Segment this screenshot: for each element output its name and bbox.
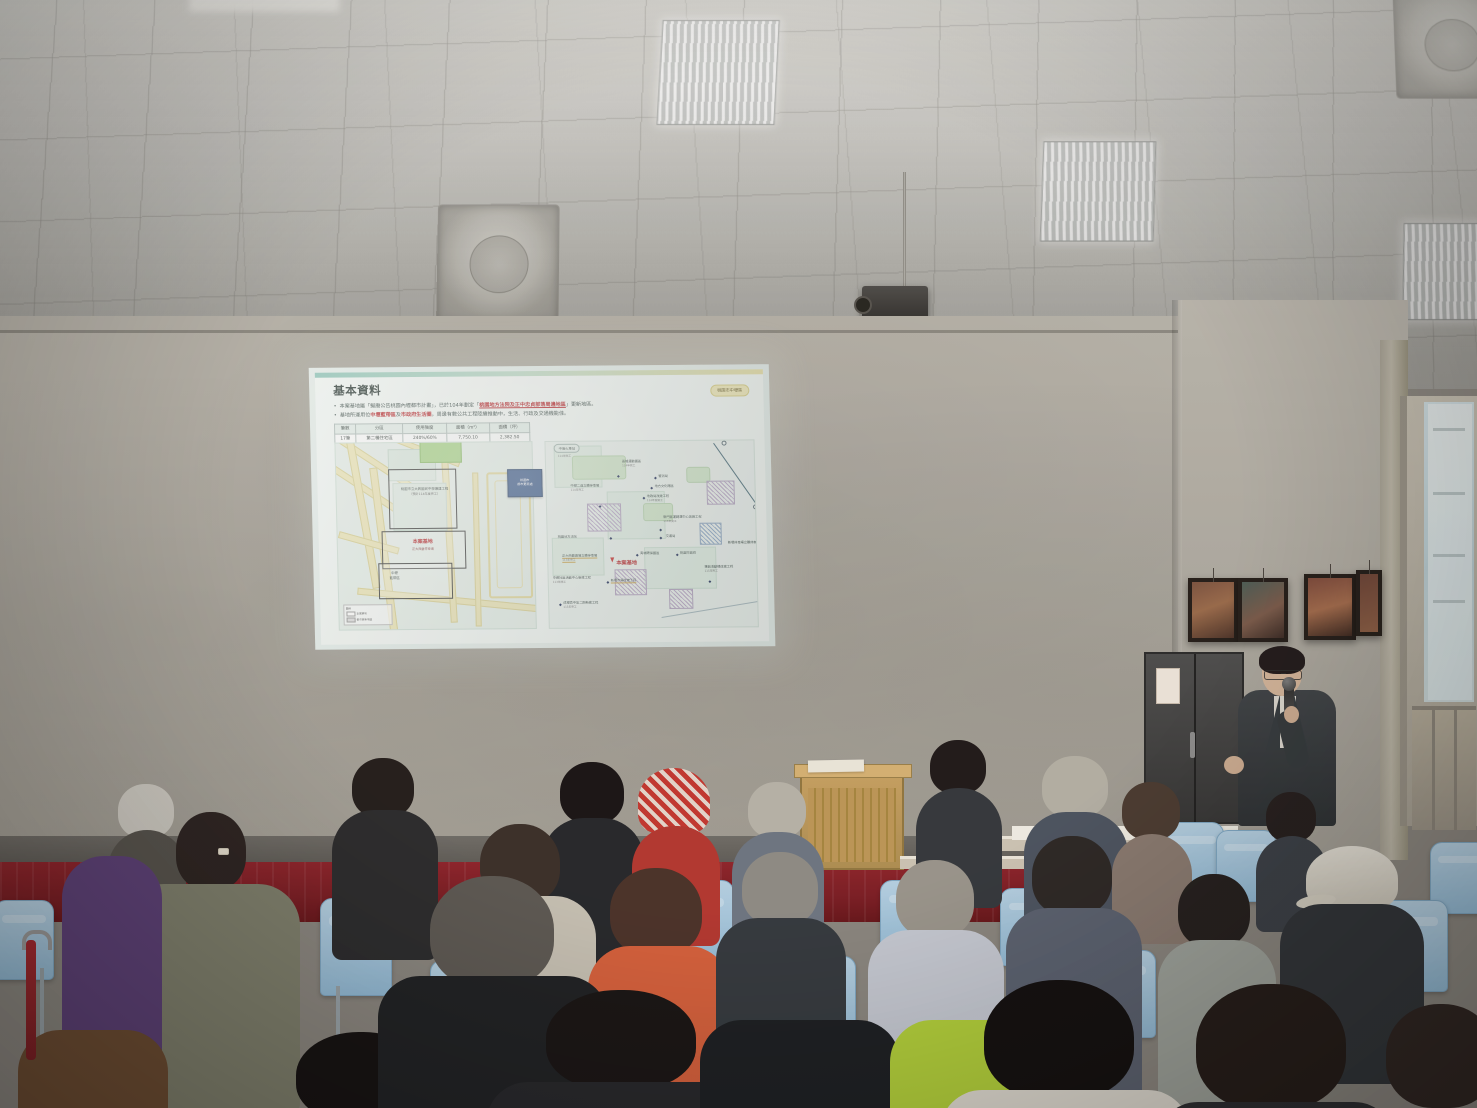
- map-project-label: 交通局: [666, 534, 676, 538]
- map-hatched-parcel: [706, 480, 735, 504]
- map-rail-node: [721, 441, 726, 446]
- table-header-cell: 筆數: [334, 424, 355, 434]
- map-agency-box: 桃園市 都市更新處: [507, 469, 543, 497]
- map-marker: [654, 477, 657, 480]
- slide: 基本資料 桃園市中壢區 • 本案基地屬「擬賡公告桃園內壢都市計畫」，已於104年…: [315, 369, 769, 644]
- cabinet-handle[interactable]: [1190, 732, 1195, 758]
- bullet-marker: •: [334, 404, 337, 412]
- baseball-cap: [1306, 846, 1398, 912]
- cabinet-notice-paper: [1156, 668, 1180, 704]
- table-header-cell: 面積（m²）: [446, 423, 489, 433]
- framed-painting: [1188, 578, 1238, 642]
- map-project-label: 正大西藝廣場立體停車場115年完工: [562, 554, 597, 563]
- surrounding-projects-map: 中壢火車站 114年完工 區域運動園區114年完工 中壢二連立體停車場114年完…: [544, 439, 758, 629]
- projection-screen: 基本資料 桃園市中壢區 • 本案基地屬「擬賡公告桃園內壢都市計畫」，已於104年…: [309, 364, 776, 650]
- map-project-label: 中壢社區活動中心新建工程113年開工: [553, 576, 591, 585]
- projected-image: 基本資料 桃園市中壢區 • 本案基地屬「擬賡公告桃園內壢都市計畫」，已於104年…: [309, 364, 776, 650]
- picture-hook: [1213, 568, 1214, 582]
- framed-painting: [1238, 578, 1288, 642]
- lectern-panel: [808, 788, 896, 862]
- map-project-label: 區域運動園區114年完工: [622, 459, 641, 468]
- map-zone-label: 中壢藍帶區: [382, 571, 406, 580]
- attendee-head: [984, 980, 1134, 1100]
- map-parcel-label: 桃園市立大興國民中學遷建工程 （預計114年度完工）: [392, 487, 456, 497]
- map-marker: [609, 537, 612, 540]
- umbrella: [26, 940, 36, 1060]
- map-project-label: 警消局: [658, 474, 668, 478]
- attendee-head: [1042, 756, 1108, 818]
- presenter-other-hand: [1224, 756, 1244, 774]
- legend-title-row: 圖例: [346, 606, 390, 610]
- attendee-torso: [940, 1090, 1190, 1108]
- painting-art: [1360, 574, 1378, 632]
- table-header-cell: 使用強度: [403, 423, 447, 433]
- map-rail-node: [753, 504, 758, 509]
- map-project-label: 青埔環保園區: [640, 551, 659, 555]
- bullet-text: 基地所運用位中壢藍帶區及市政府生活圈，周邊有數公共工程陸續推動中，生活、行政及交…: [340, 411, 570, 421]
- table-header-cell: 面積（坪）: [489, 423, 530, 433]
- site-pin-icon: [610, 557, 614, 562]
- painting-art: [1242, 582, 1284, 638]
- map-hatched-parcel: [669, 589, 693, 609]
- framed-painting: [1304, 574, 1356, 640]
- map-project-label: 地政局改建工程114年度開工: [647, 494, 670, 503]
- attendee-head: [1196, 984, 1346, 1108]
- map-project-label: 新壢市場改建工程: [611, 578, 637, 583]
- slide-title: 基本資料: [333, 382, 381, 398]
- map-marker: [650, 487, 653, 490]
- picture-hook: [1330, 564, 1331, 578]
- legend-item: 本案基地: [346, 611, 390, 616]
- attendee-head: [430, 876, 554, 988]
- highlight-underline: 桃園地方法院及正中忠貞部落周邊地區: [479, 402, 566, 409]
- picture-hook: [1263, 568, 1264, 582]
- map-green-space: [419, 441, 462, 463]
- map-project-label: 中壢二連立體停車場114年完工: [570, 484, 599, 493]
- attendee-head: [742, 852, 818, 926]
- map-project-label: 成壢高中第二期新建工程115年完工: [563, 601, 598, 610]
- microphone-head: [1282, 677, 1296, 691]
- attendee-hat: [638, 768, 710, 834]
- attendee-head: [748, 782, 806, 838]
- attendee-head: [1266, 792, 1316, 842]
- attendee-head: [1122, 782, 1180, 840]
- attendee-head: [1386, 1004, 1477, 1108]
- bullet-row: • 基地所運用位中壢藍帶區及市政府生活圈，周邊有數公共工程陸續推動中，生活、行政…: [334, 410, 752, 421]
- map-hatched-parcel: [587, 503, 622, 531]
- attendee-head: [896, 860, 974, 938]
- window-lower-sash: [1412, 706, 1476, 830]
- attendee-torso: [1156, 1102, 1396, 1108]
- presenter-hand: [1284, 706, 1299, 723]
- map-hatched-parcel: [699, 523, 722, 545]
- map-legend: 圖例 本案基地 都市更新地區: [343, 604, 393, 626]
- map-marker: [659, 537, 662, 540]
- wall-banner: [1428, 404, 1472, 700]
- slide-top-accent-bar: [315, 369, 763, 378]
- meeting-hall-photo: 基本資料 桃園市中壢區 • 本案基地屬「擬賡公告桃園內壢都市計畫」，已於104年…: [0, 0, 1477, 1108]
- attendee-head: [930, 740, 986, 794]
- map-station-chip: 中壢火車站: [554, 444, 581, 453]
- attendee-head: [546, 990, 696, 1090]
- map-project-label: 新門客運轉運中心改建工程115年完工: [663, 515, 701, 524]
- map-marker: [606, 581, 609, 584]
- lectern-papers: [808, 760, 864, 773]
- highlight-red: 中壢藍帶區: [370, 413, 396, 419]
- attendee-head: [352, 758, 414, 818]
- highlight-red: 市政府生活圈: [401, 412, 432, 418]
- hair-clip: [218, 848, 229, 855]
- attendee-head: [560, 762, 624, 824]
- attendee-torso: [700, 1020, 900, 1108]
- projector-mount-rod: [903, 172, 906, 290]
- attendee-torso: [332, 810, 438, 960]
- map-chip-year: 114年完工: [558, 454, 571, 459]
- map-marker: [559, 603, 562, 606]
- attendee-head: [610, 868, 702, 956]
- attendee-head: [1032, 836, 1112, 916]
- picture-hook: [1369, 560, 1370, 574]
- map-project-label: 桃園地方法院: [558, 535, 577, 539]
- attendee-head: [1178, 874, 1250, 948]
- table-header-cell: 分區: [355, 424, 403, 434]
- map-site-label: 本案基地: [616, 559, 637, 566]
- painting-art: [1308, 578, 1352, 636]
- framed-painting: [1356, 570, 1382, 636]
- slide-bullets: • 本案基地屬「擬賡公告桃園內壢都市計畫」，已於104年劃定「桃園地方法院及正中…: [334, 400, 752, 422]
- attendee-torso: [18, 1030, 168, 1108]
- umbrella-handle: [22, 930, 52, 950]
- map-project-label: 蓮興活動樓改建工程115年完工: [704, 564, 733, 573]
- legend-item: 都市更新地區: [346, 617, 390, 622]
- wall-ceiling-joint: [0, 330, 1185, 333]
- painting-art: [1192, 582, 1234, 638]
- slide-badge: 桃園市中壢區: [710, 384, 749, 396]
- project-site-outline-lower: [378, 563, 453, 600]
- map-project-label: 新壢停車場立體停車場: [728, 540, 759, 545]
- adjacent-parcel-outline: [388, 469, 457, 530]
- bullet-marker: •: [334, 413, 337, 421]
- map-site-label: 本案基地 正大西藝停車場: [386, 539, 460, 553]
- map-project-label: 桃園市政府: [680, 551, 696, 555]
- map-marker: [636, 554, 639, 557]
- attendee-head: [176, 812, 246, 890]
- map-project-label: 地方文化館區: [654, 484, 673, 488]
